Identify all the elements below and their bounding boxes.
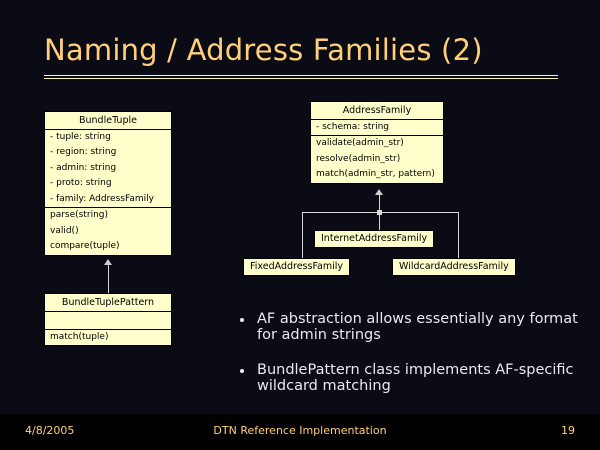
uml-class-name: WildcardAddressFamily <box>399 261 509 272</box>
list-item-label: AF abstraction allows essentially any fo… <box>257 311 578 343</box>
list-item-label: BundlePattern class implements AF-specif… <box>257 362 574 394</box>
footer-title: DTN Reference Implementation <box>0 424 600 437</box>
bullet-dot-icon <box>240 318 244 322</box>
uml-class-name: BundleTuple <box>45 112 171 129</box>
uml-compartment-attributes <box>45 311 171 329</box>
uml-operation: compare(tuple) <box>45 239 171 254</box>
uml-attribute: - proto: string <box>45 176 171 191</box>
uml-operation: match(tuple) <box>45 330 171 345</box>
uml-operation: resolve(admin_str) <box>311 152 443 167</box>
title-divider <box>44 75 558 79</box>
uml-compartment-operations: parse(string) valid() compare(tuple) <box>45 207 171 254</box>
slide: Naming / Address Families (2) BundleTupl… <box>0 0 600 450</box>
uml-operation: parse(string) <box>45 208 171 223</box>
uml-class-internetaddressfamily[interactable]: InternetAddressFamily <box>314 230 434 248</box>
generalization-line-internetaddressfamily <box>379 212 380 230</box>
uml-class-bundletuple[interactable]: BundleTuple - tuple: string - region: st… <box>44 111 172 256</box>
uml-compartment-attributes: - schema: string <box>311 119 443 135</box>
uml-class-fixedaddressfamily[interactable]: FixedAddressFamily <box>243 258 350 276</box>
uml-operation: valid() <box>45 224 171 239</box>
uml-attribute: - family: AddressFamily <box>45 192 171 207</box>
footer-page-number: 19 <box>561 424 575 437</box>
list-item: AF abstraction allows essentially any fo… <box>236 312 592 343</box>
uml-class-name: InternetAddressFamily <box>321 233 427 244</box>
generalization-arrowhead-bundletuple <box>104 259 112 265</box>
uml-class-wildcardaddressfamily[interactable]: WildcardAddressFamily <box>392 258 516 276</box>
generalization-line-fixedaddressfamily <box>302 212 303 258</box>
uml-class-addressfamily[interactable]: AddressFamily - schema: string validate(… <box>310 101 444 184</box>
uml-class-name: BundleTuplePattern <box>45 294 171 311</box>
page-title: Naming / Address Families (2) <box>44 33 483 67</box>
uml-attribute: - admin: string <box>45 161 171 176</box>
uml-operation: match(admin_str, pattern) <box>311 167 443 182</box>
bullet-dot-icon <box>240 369 244 373</box>
uml-attribute: - tuple: string <box>45 130 171 145</box>
uml-compartment-operations: validate(admin_str) resolve(admin_str) m… <box>311 135 443 182</box>
uml-compartment-attributes: - tuple: string - region: string - admin… <box>45 129 171 207</box>
uml-class-name: AddressFamily <box>311 102 443 119</box>
uml-class-bundletuplepattern[interactable]: BundleTuplePattern match(tuple) <box>44 293 172 346</box>
slide-footer: 4/8/2005 DTN Reference Implementation 19 <box>0 414 600 450</box>
generalization-line-wildcardaddressfamily <box>458 212 459 258</box>
uml-operation: validate(admin_str) <box>311 136 443 151</box>
uml-compartment-operations: match(tuple) <box>45 329 171 345</box>
uml-class-name: FixedAddressFamily <box>250 261 343 272</box>
uml-attribute: - schema: string <box>311 120 443 135</box>
generalization-line-bundletuplepattern <box>108 265 109 293</box>
bullet-list: AF abstraction allows essentially any fo… <box>236 312 592 415</box>
uml-attribute: - region: string <box>45 145 171 160</box>
generalization-arrowhead-addressfamily <box>375 189 383 195</box>
uml-attribute <box>45 312 171 329</box>
list-item: BundlePattern class implements AF-specif… <box>236 363 592 394</box>
